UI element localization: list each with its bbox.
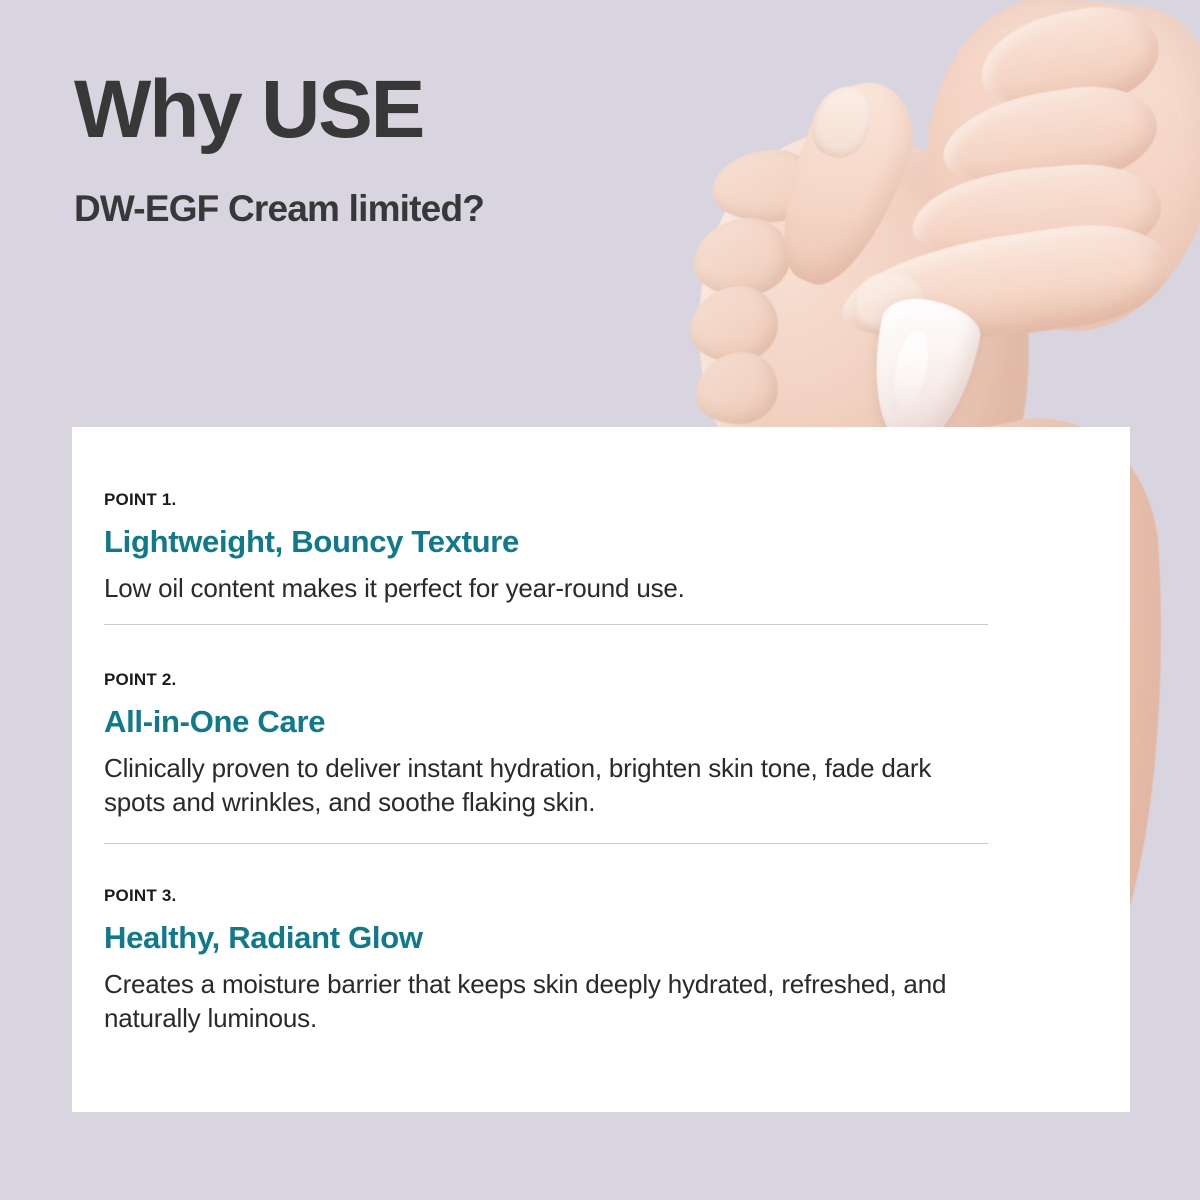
point-body: Clinically proven to deliver instant hyd… xyxy=(104,751,966,820)
cream-highlight-shape xyxy=(888,328,934,411)
finger-shape xyxy=(972,0,1167,124)
knuckle-shape xyxy=(696,352,778,424)
point-label: POINT 3. xyxy=(104,886,984,906)
point-divider xyxy=(104,843,988,844)
point-body: Creates a moisture barrier that keeps sk… xyxy=(104,967,984,1036)
banner-header: Why USE DW-EGF Cream limited? xyxy=(74,68,774,230)
point-divider xyxy=(104,624,988,625)
point-body: Low oil content makes it perfect for yea… xyxy=(104,571,974,605)
knuckle-shape xyxy=(694,218,790,296)
point-title: Healthy, Radiant Glow xyxy=(104,920,984,956)
fingernail-shape xyxy=(846,264,932,338)
fingernail-shape xyxy=(803,78,882,166)
point-title: All-in-One Care xyxy=(104,704,966,740)
benefit-point-3: POINT 3. Healthy, Radiant Glow Creates a… xyxy=(104,886,984,1036)
finger-shape xyxy=(936,76,1164,203)
product-benefits-banner: Why USE DW-EGF Cream limited? POINT 1. L… xyxy=(0,0,1200,1200)
benefit-point-1: POINT 1. Lightweight, Bouncy Texture Low… xyxy=(104,490,974,605)
index-finger-shape xyxy=(835,214,1176,359)
point-label: POINT 2. xyxy=(104,670,966,690)
page-title: Why USE xyxy=(74,68,774,152)
benefit-point-2: POINT 2. All-in-One Care Clinically prov… xyxy=(104,670,966,820)
finger-shape xyxy=(908,157,1165,274)
point-title: Lightweight, Bouncy Texture xyxy=(104,524,974,560)
back-hand-finger-shape xyxy=(756,66,931,300)
page-subtitle: DW-EGF Cream limited? xyxy=(74,188,774,230)
front-hand-shape xyxy=(910,0,1200,344)
point-label: POINT 1. xyxy=(104,490,974,510)
knuckle-shape xyxy=(690,286,778,362)
